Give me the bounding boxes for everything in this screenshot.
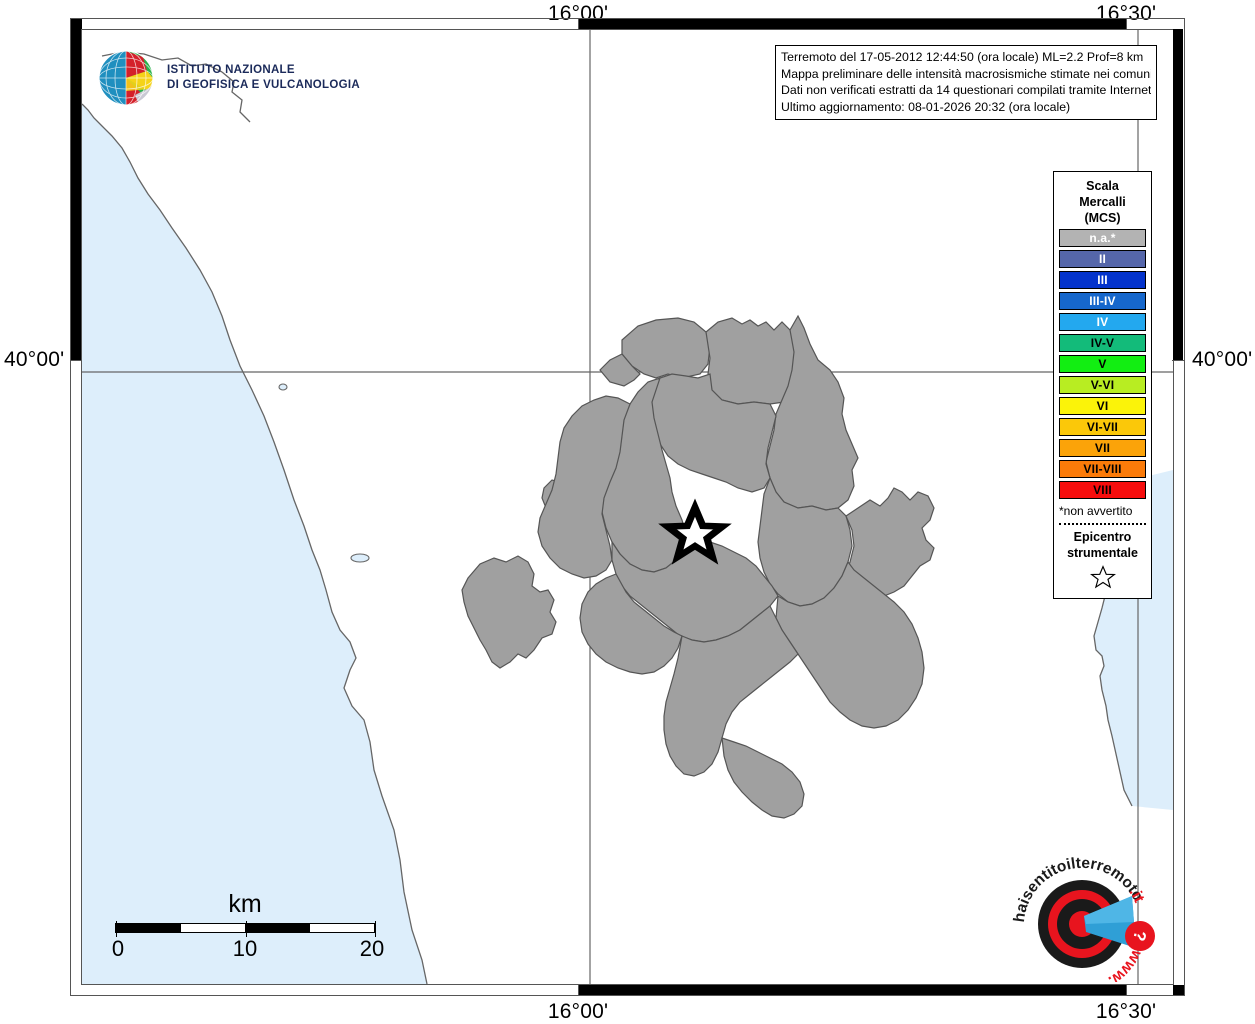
info-line-map: Mappa preliminare delle intensità macros… [781,66,1151,83]
graticule-label-left-40n: 40°00' [4,348,64,372]
legend-swatch-iv[interactable]: IV [1059,313,1146,331]
legend-swatch-na[interactable]: n.a.* [1059,229,1146,247]
legend-swatch-iii[interactable]: III [1059,271,1146,289]
frame-left-segment-1 [71,19,81,360]
graticule-label-bottom-right: 16°30' [1096,1000,1156,1024]
scale-bar-label-0: 0 [112,936,124,962]
info-line-update: Ultimo aggiornamento: 08-01-2026 20:32 (… [781,99,1151,116]
scale-bar-unit-label: km [115,890,375,919]
legend-swatch-v-vi[interactable]: V-VI [1059,376,1146,394]
frame-tick-top-1630 [1126,18,1127,30]
legend-swatch-v[interactable]: V [1059,355,1146,373]
scale-bar-tick-0 [116,921,117,937]
legend-swatch-iv-v[interactable]: IV-V [1059,334,1146,352]
legend-epicenter-star-icon [1059,565,1146,591]
graticule-label-right-40n: 40°00' [1192,348,1252,372]
scale-bar-labels: 0 10 20 [115,936,375,962]
legend-epicenter-line2: strumentale [1059,545,1146,561]
ingv-globe-icon [95,47,157,109]
earthquake-info-box: Terremoto del 17-05-2012 12:44:50 (ora l… [775,45,1157,120]
ingv-logo-line1: ISTITUTO NAZIONALE [167,63,360,78]
scale-bar-label-10: 10 [233,936,257,962]
frame-right-segment-2 [1173,985,1184,995]
scale-bar-tick-10 [246,921,247,937]
legend-swatch-viii[interactable]: VIII [1059,481,1146,499]
graticule-label-bottom-left: 16°00' [548,1000,608,1024]
info-line-data: Dati non verificati estratti da 14 quest… [781,82,1151,99]
frame-tick-bottom-1630 [1126,984,1127,996]
legend-title-line1: Scala [1059,178,1146,194]
hsit-target-icon: ? haisentitoilterremoto .it www. [1004,852,1164,982]
legend-note-non-avvertito: *non avvertito [1059,504,1146,518]
scale-bar-tick-20 [375,921,376,937]
scale-bar-segment-2 [181,924,246,932]
scale-bar-segment-4 [310,924,375,932]
frame-inner-border [81,29,1174,985]
frame-tick-top-1600 [578,18,579,30]
frame-right-segment-1 [1173,29,1183,360]
ingv-logo: ISTITUTO NAZIONALE DI GEOFISICA E VULCAN… [95,47,360,109]
legend-epicenter-line1: Epicentro [1059,529,1146,545]
seismic-intensity-map-page: 16°00' 16°30' 16°00' 16°30' 40°00' 40°00… [0,0,1255,1024]
frame-bottom-segment-1 [578,985,1126,995]
scale-bar-segment-1 [116,924,181,932]
mercalli-scale-legend: Scala Mercalli (MCS) n.a.* II III III-IV… [1053,171,1152,599]
info-line-event: Terremoto del 17-05-2012 12:44:50 (ora l… [781,49,1151,66]
hai-sentito-il-terremoto-logo[interactable]: ? haisentitoilterremoto .it www. [1004,852,1164,982]
ingv-logo-line2: DI GEOFISICA E VULCANOLOGIA [167,78,360,93]
legend-swatch-vi-vii[interactable]: VI-VII [1059,418,1146,436]
ingv-logo-text: ISTITUTO NAZIONALE DI GEOFISICA E VULCAN… [167,63,360,93]
legend-title-line3: (MCS) [1059,210,1146,226]
legend-swatch-vi[interactable]: VI [1059,397,1146,415]
map-scale-bar: km 0 10 20 [115,890,375,962]
scale-bar-label-20: 20 [360,936,384,962]
legend-title-line2: Mercalli [1059,194,1146,210]
legend-swatch-iii-iv[interactable]: III-IV [1059,292,1146,310]
frame-tick-left-4000 [70,360,82,361]
frame-tick-right-4000 [1172,360,1184,361]
scale-bar-segment-3 [245,924,310,932]
legend-swatch-ii[interactable]: II [1059,250,1146,268]
scale-bar-graphic [115,923,375,933]
legend-swatch-vii-viii[interactable]: VII-VIII [1059,460,1146,478]
legend-swatch-vii[interactable]: VII [1059,439,1146,457]
map-frame [70,18,1185,996]
legend-divider [1059,523,1146,525]
frame-top-segment-2 [578,19,1126,29]
frame-tick-bottom-1600 [578,984,579,996]
